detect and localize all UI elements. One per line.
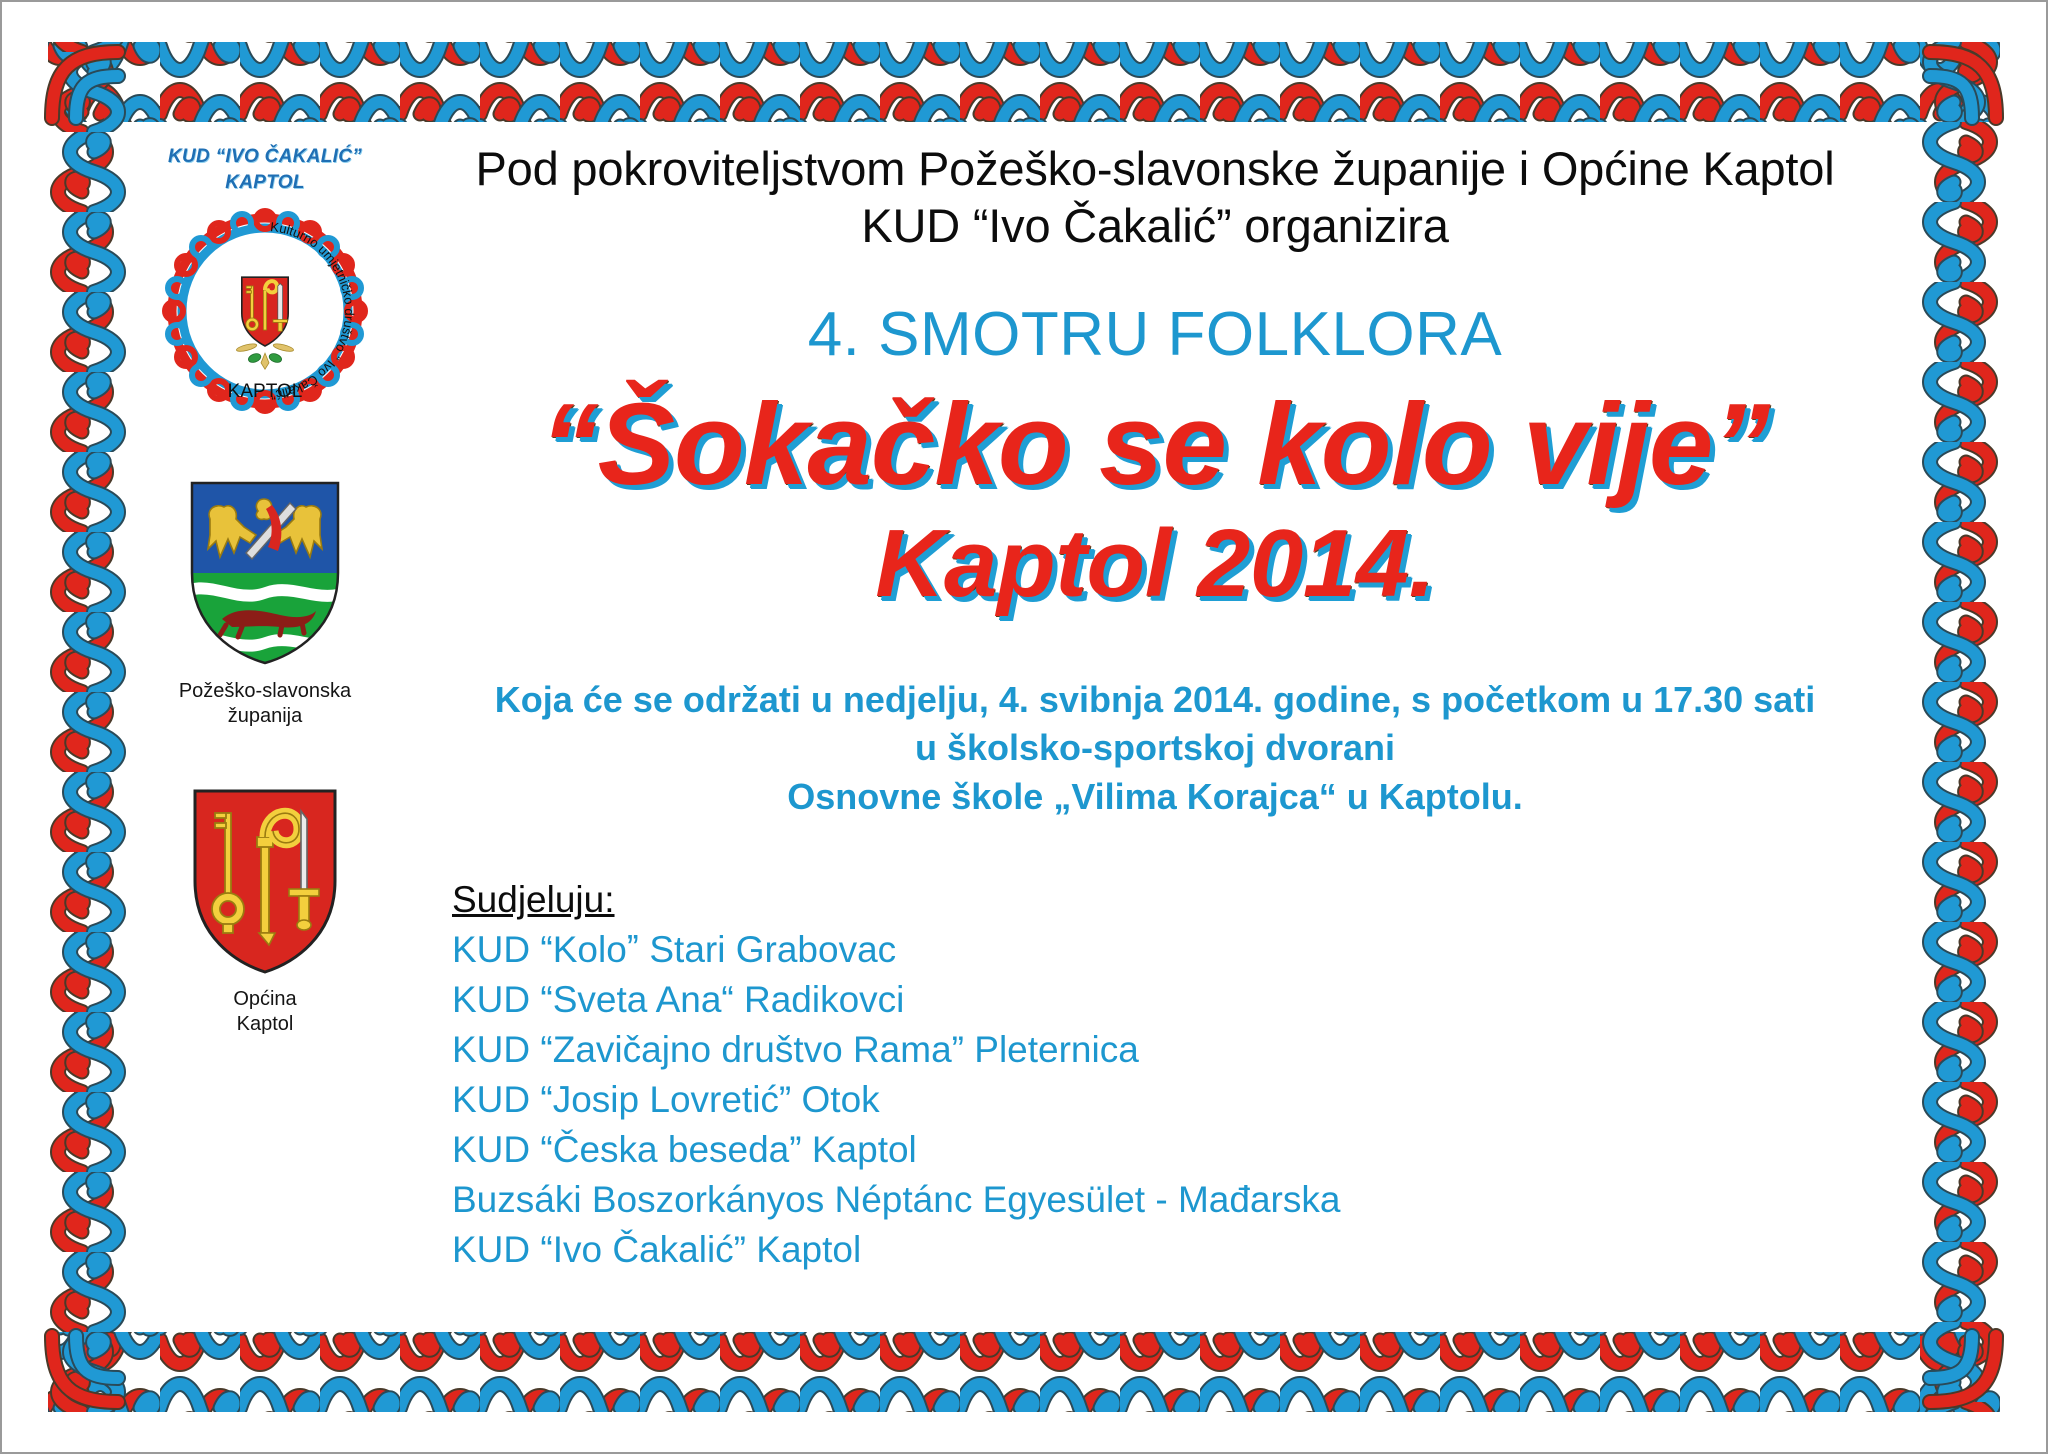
kud-logo-title-line2: KAPTOL	[130, 170, 400, 196]
poster-content: KUD “IVO ČAKALIĆ” KAPTOL	[130, 118, 1920, 1298]
opcina-kaptol-crest-icon	[189, 785, 341, 975]
kud-emblem-caption: KAPTOL	[228, 381, 303, 402]
participants-block: Sudjeluju: KUD “Koloˮ Stari Grabovac KUD…	[420, 879, 1890, 1275]
host-block: Pod pokroviteljstvom Požeško-slavonske ž…	[420, 140, 1890, 255]
event-details-line-2: u školsko-sportskoj dvorani	[420, 724, 1890, 773]
host-line-1: Pod pokroviteljstvom Požeško-slavonske ž…	[420, 140, 1890, 197]
participants-heading: Sudjeluju:	[452, 879, 1890, 921]
event-title-place-year: Kaptol 2014.	[420, 516, 1890, 612]
list-item: Buzsáki Boszorkányos Néptánc Egyesület -…	[452, 1175, 1890, 1225]
crest-zupanija-caption-line1: Požeško-slavonska	[130, 679, 400, 704]
crest-zupanija: Požeško-slavonska županija	[130, 477, 400, 729]
event-details-line-1: Koja će se održati u nedjelju, 4. svibnj…	[420, 676, 1890, 725]
crest-opcina: Općina Kaptol	[130, 785, 400, 1037]
crest-zupanija-caption-line2: županija	[130, 704, 400, 729]
event-title: “Šokačko se kolo vije”	[420, 386, 1890, 502]
pozesko-slavonska-zupanija-crest-icon	[186, 477, 344, 667]
list-item: KUD “Koloˮ Stari Grabovac	[452, 925, 1890, 975]
text-column: Pod pokroviteljstvom Požeško-slavonske ž…	[420, 118, 1890, 1275]
kud-emblem-icon: Kulturno umjetničko društvo “ Ivo Čakali…	[155, 201, 375, 421]
list-item: KUD “Zavičajno društvo Rama” Pleternica	[452, 1025, 1890, 1075]
host-line-2: KUD “Ivo Čakalić” organizira	[420, 197, 1890, 254]
list-item: KUD “Josip Lovretić” Otok	[452, 1075, 1890, 1125]
event-details-line-3: Osnovne škole „Vilima Korajca“ u Kaptolu…	[420, 773, 1890, 822]
list-item: KUD “Česka beseda” Kaptol	[452, 1125, 1890, 1175]
event-subtitle: 4. SMOTRU FOLKLORA	[420, 299, 1890, 370]
list-item: KUD “Sveta Ana“ Radikovci	[452, 975, 1890, 1025]
logo-column: KUD “IVO ČAKALIĆ” KAPTOL	[130, 118, 400, 1037]
crest-opcina-caption-line1: Općina	[130, 987, 400, 1012]
crest-opcina-caption-line2: Kaptol	[130, 1012, 400, 1037]
poster-root: KUD “IVO ČAKALIĆ” KAPTOL	[0, 0, 2048, 1454]
list-item: KUD “Ivo Čakalić” Kaptol	[452, 1225, 1890, 1275]
event-details-block: Koja će se održati u nedjelju, 4. svibnj…	[420, 676, 1890, 822]
kud-logo-title: KUD “IVO ČAKALIĆ” KAPTOL	[130, 144, 400, 195]
kud-logo-title-line1: KUD “IVO ČAKALIĆ”	[130, 144, 400, 170]
